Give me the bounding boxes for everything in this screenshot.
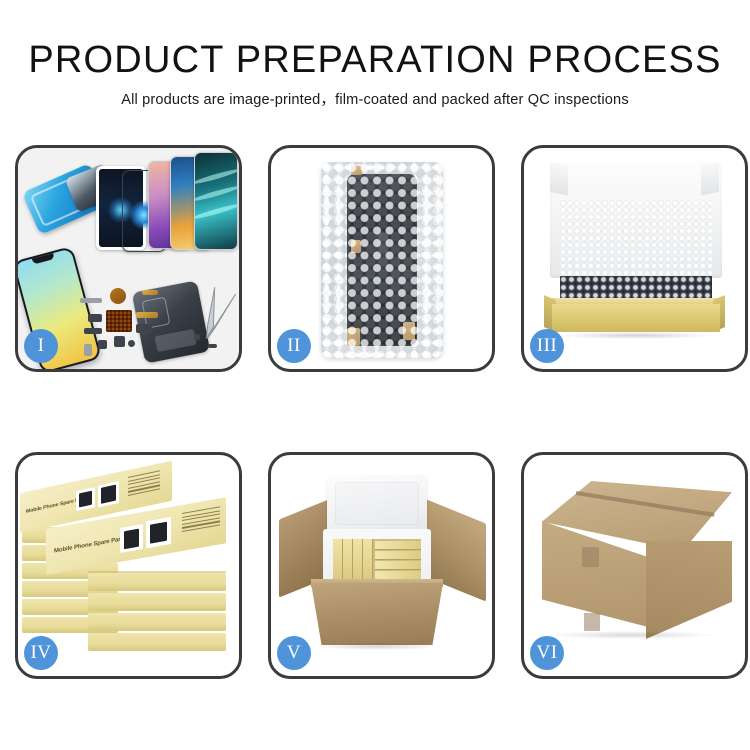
drop-shadow — [558, 332, 714, 339]
badge-step-5: V — [277, 636, 311, 670]
small-part — [80, 298, 102, 303]
screw-part — [128, 340, 135, 347]
kraft-box-edge — [375, 561, 421, 570]
wallpaper-streak — [194, 202, 238, 221]
small-part — [208, 344, 217, 348]
phone-teal-display — [194, 152, 238, 250]
foam-padding-sheet — [560, 200, 712, 276]
box-label-image — [76, 487, 95, 511]
speaker-part — [110, 288, 126, 304]
flex-cable-part — [136, 312, 158, 318]
bubble-wrap-bag — [321, 162, 443, 358]
badge-step-6: VI — [530, 636, 564, 670]
lid-flap-right — [701, 162, 719, 195]
box-label-image — [146, 517, 171, 548]
box-label-image — [98, 481, 119, 507]
header: PRODUCT PREPARATION PROCESS All products… — [0, 38, 750, 109]
box-label-image — [120, 524, 143, 553]
drop-shadow — [548, 631, 714, 639]
panel-step-1[interactable]: I — [15, 145, 242, 372]
kraft-box-edge — [353, 539, 363, 583]
carton-body — [311, 583, 443, 645]
badge-step-1: I — [24, 329, 58, 363]
tape-strip — [582, 547, 599, 567]
box-label-spec-lines — [182, 506, 220, 534]
box-label-spec-lines — [128, 470, 160, 498]
small-part — [88, 314, 102, 322]
box-edge — [88, 571, 226, 573]
badge-step-2: II — [277, 329, 311, 363]
wallpaper-streak — [194, 185, 238, 204]
sim-tray — [84, 344, 92, 356]
logic-board-chip — [106, 310, 132, 332]
kraft-box — [88, 633, 226, 651]
badge-step-4: IV — [24, 636, 58, 670]
vibrator-part — [114, 336, 125, 347]
small-part — [98, 340, 107, 349]
kraft-box-edge — [375, 541, 421, 550]
lid-flap-left — [550, 162, 568, 195]
phone-notch — [32, 253, 55, 264]
carton-side-face — [646, 541, 732, 639]
tape-piece — [351, 240, 361, 253]
panel-step-4[interactable]: Mobile Phone Spare Parts Mobile Phone Sp… — [15, 452, 242, 679]
small-part — [84, 328, 102, 334]
kraft-box-edge — [343, 539, 353, 583]
tape-strip — [584, 613, 600, 631]
drop-shadow — [315, 643, 439, 650]
kraft-box — [88, 593, 226, 611]
panel-step-6[interactable]: VI — [521, 452, 748, 679]
page-title: PRODUCT PREPARATION PROCESS — [0, 38, 750, 82]
tape-piece — [347, 328, 360, 346]
box-label-product-text: Mobile Phone Spare Parts — [54, 536, 126, 555]
tape-piece — [351, 166, 362, 175]
kraft-box-front — [552, 304, 720, 332]
screw-part — [194, 334, 200, 340]
kraft-box — [88, 573, 226, 591]
foam-lid-open — [327, 475, 427, 537]
camera-module — [136, 324, 152, 333]
page-subtitle: All products are image-printed，film-coat… — [0, 91, 750, 109]
kraft-boxes-inside-carton — [333, 539, 421, 583]
badge-step-3: III — [530, 329, 564, 363]
process-steps-grid: I II — [15, 145, 748, 680]
tape-piece — [403, 322, 415, 340]
kraft-box — [88, 613, 226, 631]
wallpaper-streak — [194, 167, 238, 186]
panel-step-3[interactable]: III — [521, 145, 748, 372]
product-preparation-infographic: PRODUCT PREPARATION PROCESS All products… — [0, 0, 750, 750]
kraft-box-edge — [363, 539, 373, 583]
kraft-box-edge — [333, 539, 343, 583]
flex-connector — [142, 290, 158, 295]
screen-flex-cable — [375, 233, 389, 319]
kraft-box-edge — [375, 551, 421, 560]
panel-step-2[interactable]: II — [268, 145, 495, 372]
panel-step-5[interactable]: V — [268, 452, 495, 679]
